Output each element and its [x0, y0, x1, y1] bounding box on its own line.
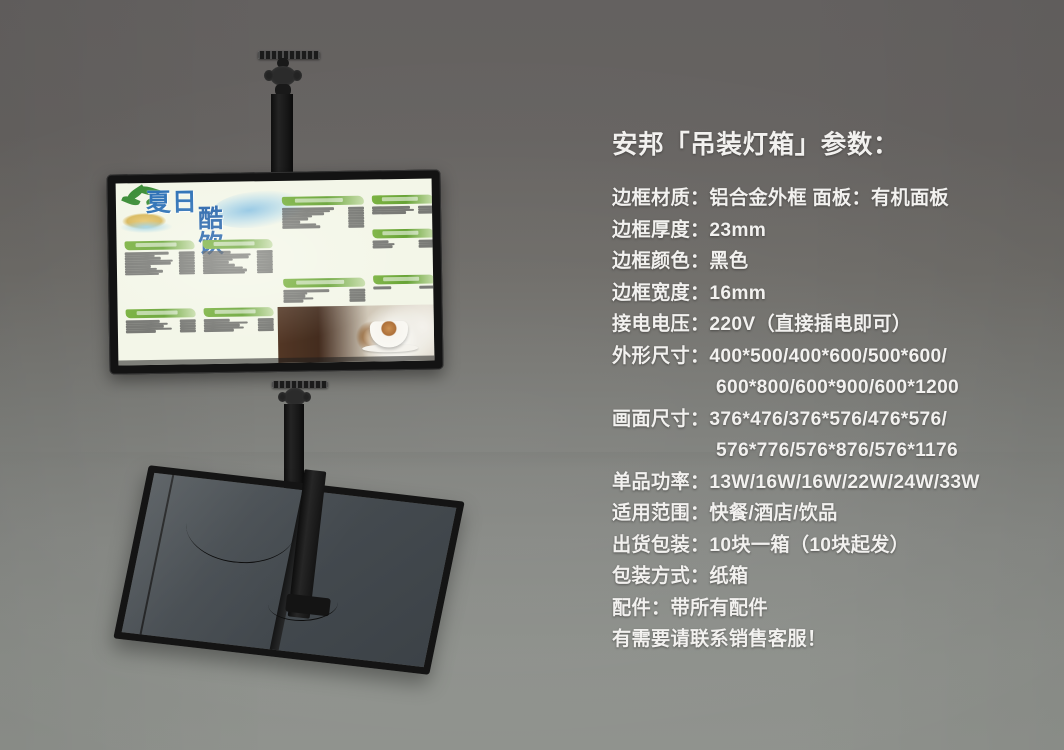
menu-section-header: [283, 278, 365, 288]
lower-mount-knob-left: [278, 392, 287, 402]
product-photo-scene: 夏日 酷饮: [0, 0, 1064, 750]
spec-line: 边框材质：铝合金外框 面板：有机面板: [612, 183, 1042, 215]
spec-line: 有需要请联系销售客服！: [612, 624, 1042, 656]
menu-section: [282, 196, 364, 229]
menu-section: [372, 194, 434, 214]
spec-line-list: 边框材质：铝合金外框 面板：有机面板边框厚度：23mm边框颜色：黑色边框宽度：1…: [612, 183, 1042, 656]
menu-section-header: [126, 308, 196, 318]
menu-section-header: [282, 196, 364, 206]
back-panel-sheen: [122, 473, 457, 667]
menu-section-header: [125, 240, 195, 250]
menu-section-header: [373, 274, 434, 284]
menu-item-row: [283, 299, 365, 303]
mount-plate-holes: [258, 51, 320, 59]
poster-title-line1: 夏日: [146, 188, 198, 217]
spec-line: 接电电压：220V（直接插电即可）: [612, 309, 1042, 341]
spec-line: 出货包装：10块一箱（10块起发）: [612, 530, 1042, 562]
spec-line: 576*776/576*876/576*1176: [612, 435, 1042, 467]
menu-item-row: [126, 330, 196, 334]
water-graphic: [120, 221, 172, 234]
menu-section-header: [202, 239, 272, 249]
mount-knob-left: [264, 70, 274, 81]
menu-item-row: [372, 211, 434, 215]
spec-line: 边框厚度：23mm: [612, 215, 1042, 247]
spec-title: 安邦「吊装灯箱」参数：: [612, 124, 1042, 161]
spec-line: 外形尺寸：400*500/400*600/500*600/: [612, 341, 1042, 373]
ceiling-mount-plate-icon: [258, 51, 320, 59]
menu-section-header: [204, 307, 274, 317]
coffee-photo: [278, 305, 435, 363]
lightbox-lit-panel: 夏日 酷饮: [106, 169, 443, 374]
mount-pole-upper: [271, 94, 293, 178]
menu-item-row: [282, 225, 364, 229]
menu-section: [125, 240, 196, 275]
menu-item-row: [373, 285, 434, 289]
menu-section: [372, 228, 434, 248]
menu-section: [373, 274, 434, 289]
lower-mount-plate-icon: [272, 381, 328, 388]
spec-line: 画面尺寸：376*476/376*576/476*576/: [612, 404, 1042, 436]
menu-section: [126, 308, 196, 333]
menu-item-row: [203, 271, 273, 275]
mount-knob-right: [292, 70, 302, 81]
spec-line: 适用范围：快餐/酒店/饮品: [612, 498, 1042, 530]
spec-line: 边框宽度：16mm: [612, 278, 1042, 310]
spec-line: 600*800/600*900/600*1200: [612, 372, 1042, 404]
menu-section: [202, 239, 273, 274]
spec-line: 单品功率：13W/16W/16W/22W/24W/33W: [612, 467, 1042, 499]
lower-mount-plate-holes: [272, 381, 328, 388]
poster-header-art: 夏日 酷饮: [120, 183, 307, 238]
lightbox-back-panel: [113, 465, 464, 675]
spec-line: 包装方式：纸箱: [612, 561, 1042, 593]
menu-section: [283, 278, 365, 303]
menu-item-row: [373, 245, 435, 249]
poster-title: 夏日 酷饮: [146, 190, 198, 216]
spec-line: 配件：带所有配件: [612, 593, 1042, 625]
menu-item-row: [204, 328, 274, 332]
menu-section: [204, 307, 274, 332]
menu-section-header: [372, 228, 434, 238]
specification-panel: 安邦「吊装灯箱」参数： 边框材质：铝合金外框 面板：有机面板边框厚度：23mm边…: [612, 124, 1042, 656]
lower-mount-knob-right: [302, 392, 311, 402]
menu-poster: 夏日 酷饮: [116, 179, 435, 366]
spec-line: 边框颜色：黑色: [612, 246, 1042, 278]
menu-section-header: [372, 194, 434, 204]
